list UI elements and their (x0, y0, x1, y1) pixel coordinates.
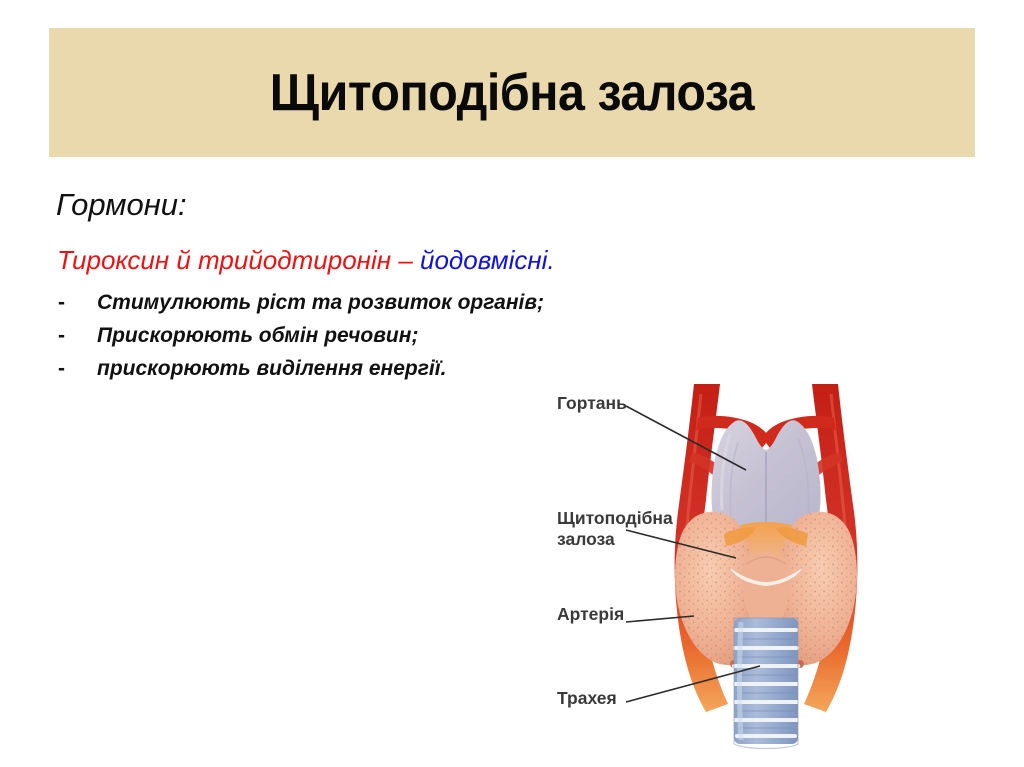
hormones-heading: Гормони: (56, 187, 187, 223)
label-thyroid-line1: Щитоподібна (557, 508, 673, 528)
hormones-statement: Тироксин й трийодтиронін – йодовмісні. (57, 245, 555, 276)
label-larynx: Гортань (557, 393, 627, 413)
list-bullet: - (56, 288, 97, 318)
list-item: - Прискорюють обмін речовин; (56, 321, 676, 354)
thyroid-anatomy-figure: Гортань Щитоподібна залоза Артерія Трахе… (498, 382, 1018, 764)
hormone-names: Тироксин й трийодтиронін (57, 245, 391, 275)
page-title: Щитоподібна залоза (81, 28, 942, 157)
label-trachea: Трахея (557, 688, 617, 708)
list-item-label: Прискорюють обмін речовин; (97, 321, 418, 351)
effects-list: - Стимулюють ріст та розвиток органів; -… (56, 288, 676, 387)
list-item-label: Стимулюють ріст та розвиток органів; (97, 288, 544, 318)
label-thyroid-line2: залоза (557, 529, 615, 549)
list-item-label: прискорюють виділення енергії. (97, 354, 446, 384)
title-banner: Щитоподібна залоза (49, 28, 975, 157)
hormone-property: йодовмісні. (420, 245, 555, 275)
list-bullet: - (56, 321, 97, 351)
list-bullet: - (56, 354, 97, 384)
label-artery: Артерія (557, 604, 624, 624)
trachea-graphic (734, 618, 798, 749)
dash-separator: – (398, 245, 412, 275)
list-item: - Стимулюють ріст та розвиток органів; (56, 288, 676, 321)
